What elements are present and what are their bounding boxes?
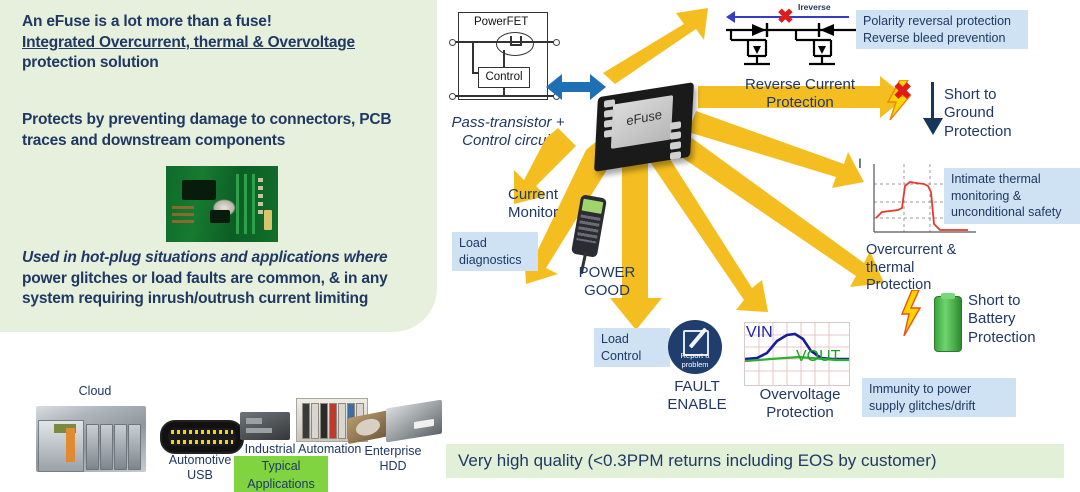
polarity-info-line-2: Reverse bleed prevention [863, 30, 1021, 47]
industrial-module-image [240, 412, 290, 440]
headline-line-2: Integrated Overcurrent, thermal & Overvo… [22, 33, 428, 54]
overvoltage-protection-label: Overvoltage Protection [736, 386, 864, 423]
panel-usecase-text: Used in hot-plug situations and applicat… [22, 248, 430, 310]
ground-arrow-head-icon [923, 118, 943, 135]
ov-line-2: Protection [736, 404, 864, 422]
overcurrent-protection-label: Overcurrent & thermal Protection [866, 242, 1004, 295]
cloud-label: Cloud [60, 384, 130, 399]
polarity-reversal-infobox: Polarity reversal protection Reverse ble… [856, 10, 1028, 49]
short-to-ground-label: Short to Ground Protection [944, 86, 1038, 141]
headline-line-3: protection solution [22, 53, 428, 74]
enterprise-hdd-label: Enterprise HDD [348, 444, 438, 474]
load-control-line-2: Control [601, 348, 663, 365]
vin-label: VIN [746, 324, 773, 342]
reverse-title-line-2: Protection [728, 94, 872, 112]
load-control-line-1: Load [601, 331, 663, 348]
enterprise-line-1: Enterprise [348, 444, 438, 459]
efuse-chip-image: eFuse [592, 82, 700, 174]
reverse-current-schematic [726, 4, 866, 82]
fault-enable-label: FAULT ENABLE [662, 378, 732, 415]
thermal-monitoring-infobox: Intimate thermal monitoring & unconditio… [944, 168, 1080, 224]
vout-label: VOUT [796, 348, 840, 366]
short-to-battery-label: Short to Battery Protection [968, 292, 1058, 347]
used-line-2: power glitches or load faults are common… [22, 269, 430, 290]
power-good-label: POWER GOOD [570, 264, 644, 301]
current-monitor-label: Current Monitor [492, 186, 574, 223]
typical-line-2: Applications [234, 474, 328, 492]
reverse-title-line-1: Reverse Current [728, 76, 872, 94]
battery-lightning-bolt-icon [900, 290, 922, 336]
thermal-info-line-2: monitoring & [951, 188, 1079, 205]
cloud-server-image [36, 406, 146, 472]
report-problem-text: Report a problem [668, 352, 722, 369]
ground-arrow-shaft [931, 82, 934, 120]
panel-protects-text: Protects by preventing damage to connect… [22, 110, 432, 151]
cm-line-2: Monitor [492, 204, 574, 222]
report-line-2: problem [668, 361, 722, 370]
enterprise-line-2: HDD [348, 459, 438, 474]
protects-line-2: traces and downstream components [22, 131, 432, 152]
immunity-info-line-2: supply glitches/drift [869, 398, 1009, 415]
immunity-infobox: Immunity to power supply glitches/drift [862, 378, 1016, 417]
stb-line-2: Battery [968, 310, 1058, 328]
stg-line-2: Ground [944, 104, 1038, 122]
short-ground-x-icon: ✖ [893, 78, 912, 105]
fe-line-1: FAULT [662, 378, 732, 396]
load-control-infobox: Load Control [594, 328, 670, 367]
fe-line-2: ENABLE [662, 396, 732, 414]
pg-line-1: POWER [570, 264, 644, 282]
used-line-1: Used in hot-plug situations and applicat… [22, 248, 430, 269]
cm-line-1: Current [492, 186, 574, 204]
damaged-pcb-photo [166, 166, 278, 242]
stb-line-3: Protection [968, 329, 1058, 347]
load-diag-line-2: diagnostics [459, 252, 531, 269]
ov-line-1: Overvoltage [736, 386, 864, 404]
typical-applications-strip: Cloud Automotive USB Industrial Automati… [18, 368, 438, 480]
usb-connector-image [160, 420, 244, 454]
headline-line-1: An eFuse is a lot more than a fuse! [22, 12, 428, 33]
pg-line-2: GOOD [570, 282, 644, 300]
immunity-info-line-1: Immunity to power [869, 381, 1009, 398]
typical-line-1: Typical [234, 456, 328, 474]
protects-line-1: Protects by preventing damage to connect… [22, 110, 432, 131]
panel-headline: An eFuse is a lot more than a fuse! Inte… [22, 12, 428, 74]
stg-line-1: Short to [944, 86, 1038, 104]
thermal-info-line-1: Intimate thermal [951, 171, 1079, 188]
used-line-3: system requiring inrush/outrush current … [22, 289, 430, 310]
hdd-image-2 [386, 400, 442, 443]
load-diag-line-1: Load [459, 235, 531, 252]
report-a-problem-icon[interactable]: Report a problem [668, 320, 722, 374]
reverse-current-protection-label: Reverse Current Protection [728, 76, 872, 112]
overcurrent-y-axis-label: I [858, 155, 862, 171]
polarity-info-line-1: Polarity reversal protection [863, 13, 1021, 30]
thermal-info-line-3: unconditional safety [951, 204, 1079, 221]
stb-line-1: Short to [968, 292, 1058, 310]
arrow-to-reverse-current [603, 8, 708, 84]
load-diagnostics-infobox: Load diagnostics [452, 232, 538, 271]
stg-line-3: Protection [944, 123, 1038, 141]
oc-line-1: Overcurrent & thermal [866, 242, 1004, 277]
battery-icon [934, 296, 962, 352]
typical-applications-badge: Typical Applications [234, 456, 328, 492]
